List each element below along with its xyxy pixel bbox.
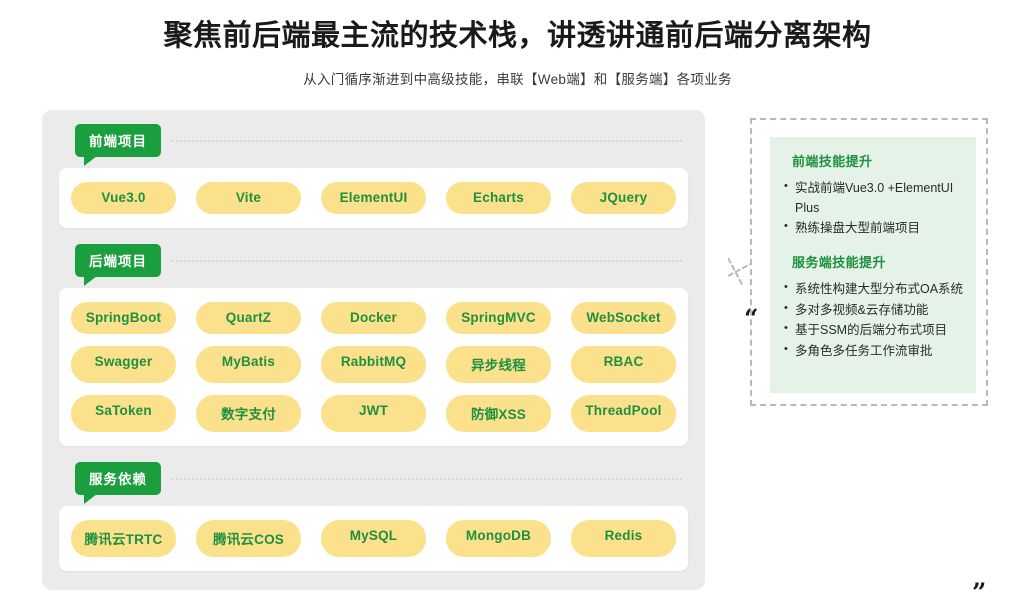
section-header-service-deps: 服务依赖 [59, 462, 688, 506]
section-divider-backend [171, 260, 682, 262]
tech-pill[interactable]: JWT [321, 395, 426, 432]
callout-heading-frontend: 前端技能提升 [792, 151, 966, 170]
section-header-backend: 后端项目 [59, 244, 688, 288]
tech-stack-panel: 前端项目 Vue3.0 Vite ElementUI Echarts JQuer… [42, 110, 705, 590]
tech-pill[interactable]: MySQL [321, 520, 426, 557]
tech-pill[interactable]: RabbitMQ [321, 346, 426, 383]
tech-pill[interactable]: Echarts [446, 182, 551, 214]
section-backend: 后端项目 SpringBoot QuartZ Docker SpringMVC … [59, 244, 688, 446]
tech-pill[interactable]: WebSocket [571, 302, 676, 334]
tech-pill[interactable]: QuartZ [196, 302, 301, 334]
page-title: 聚焦前后端最主流的技术栈，讲透讲通前后端分离架构 [0, 18, 1035, 54]
skills-callout-body: 前端技能提升 实战前端Vue3.0 +ElementUI Plus 熟练操盘大型… [770, 137, 976, 393]
tech-pill[interactable]: Vue3.0 [71, 182, 176, 214]
spacer [59, 228, 688, 244]
tech-pill[interactable]: 数字支付 [196, 395, 301, 432]
pill-row: Vue3.0 Vite ElementUI Echarts JQuery [71, 182, 676, 214]
callout-heading-backend: 服务端技能提升 [792, 252, 966, 271]
tech-pill[interactable]: MyBatis [196, 346, 301, 383]
callout-list-item: 实战前端Vue3.0 +ElementUI Plus [784, 179, 966, 218]
tech-pill[interactable]: SpringBoot [71, 302, 176, 334]
pill-row: SaToken 数字支付 JWT 防御XSS ThreadPool [71, 395, 676, 432]
skills-callout: 前端技能提升 实战前端Vue3.0 +ElementUI Plus 熟练操盘大型… [750, 118, 988, 406]
pill-row: Swagger MyBatis RabbitMQ 异步线程 RBAC [71, 346, 676, 383]
callout-list-item: 基于SSM的后端分布式项目 [784, 321, 966, 340]
tech-pill[interactable]: RBAC [571, 346, 676, 383]
tech-pill[interactable]: 异步线程 [446, 346, 551, 383]
pill-row: 腾讯云TRTC 腾讯云COS MySQL MongoDB Redis [71, 520, 676, 557]
tech-pill[interactable]: 防御XSS [446, 395, 551, 432]
callout-pointer-icon [728, 255, 752, 297]
tech-pill[interactable]: 腾讯云TRTC [71, 520, 176, 557]
spacer [59, 446, 688, 462]
tech-pill[interactable]: ThreadPool [571, 395, 676, 432]
section-service-deps: 服务依赖 腾讯云TRTC 腾讯云COS MySQL MongoDB Redis [59, 462, 688, 571]
tech-pill[interactable]: ElementUI [321, 182, 426, 214]
pill-card-backend: SpringBoot QuartZ Docker SpringMVC WebSo… [59, 288, 688, 446]
section-tag-service-deps: 服务依赖 [75, 462, 161, 495]
page-subtitle: 从入门循序渐进到中高级技能，串联【Web端】和【服务端】各项业务 [0, 68, 1035, 88]
callout-list-item: 系统性构建大型分布式OA系统 [784, 280, 966, 299]
section-divider-service-deps [171, 478, 682, 480]
pill-card-service-deps: 腾讯云TRTC 腾讯云COS MySQL MongoDB Redis [59, 506, 688, 571]
callout-list-item: 多角色多任务工作流审批 [784, 342, 966, 361]
callout-list-backend: 系统性构建大型分布式OA系统 多对多视频&云存储功能 基于SSM的后端分布式项目… [784, 280, 966, 361]
tech-pill[interactable]: SaToken [71, 395, 176, 432]
section-frontend: 前端项目 Vue3.0 Vite ElementUI Echarts JQuer… [59, 124, 688, 228]
section-divider-frontend [171, 140, 682, 142]
callout-list-item: 熟练操盘大型前端项目 [784, 219, 966, 238]
tech-pill[interactable]: SpringMVC [446, 302, 551, 334]
tech-pill[interactable]: JQuery [571, 182, 676, 214]
pill-row: SpringBoot QuartZ Docker SpringMVC WebSo… [71, 302, 676, 334]
tech-pill[interactable]: Vite [196, 182, 301, 214]
callout-list-item: 多对多视频&云存储功能 [784, 301, 966, 320]
page-header: 聚焦前后端最主流的技术栈，讲透讲通前后端分离架构 从入门循序渐进到中高级技能，串… [0, 0, 1035, 88]
pill-card-frontend: Vue3.0 Vite ElementUI Echarts JQuery [59, 168, 688, 228]
section-header-frontend: 前端项目 [59, 124, 688, 168]
section-tag-backend: 后端项目 [75, 244, 161, 277]
quote-close-icon: ” [972, 580, 986, 605]
tech-pill[interactable]: Redis [571, 520, 676, 557]
tech-pill[interactable]: Docker [321, 302, 426, 334]
section-tag-frontend: 前端项目 [75, 124, 161, 157]
tech-pill[interactable]: Swagger [71, 346, 176, 383]
tech-pill[interactable]: 腾讯云COS [196, 520, 301, 557]
tech-pill[interactable]: MongoDB [446, 520, 551, 557]
callout-list-frontend: 实战前端Vue3.0 +ElementUI Plus 熟练操盘大型前端项目 [784, 179, 966, 238]
